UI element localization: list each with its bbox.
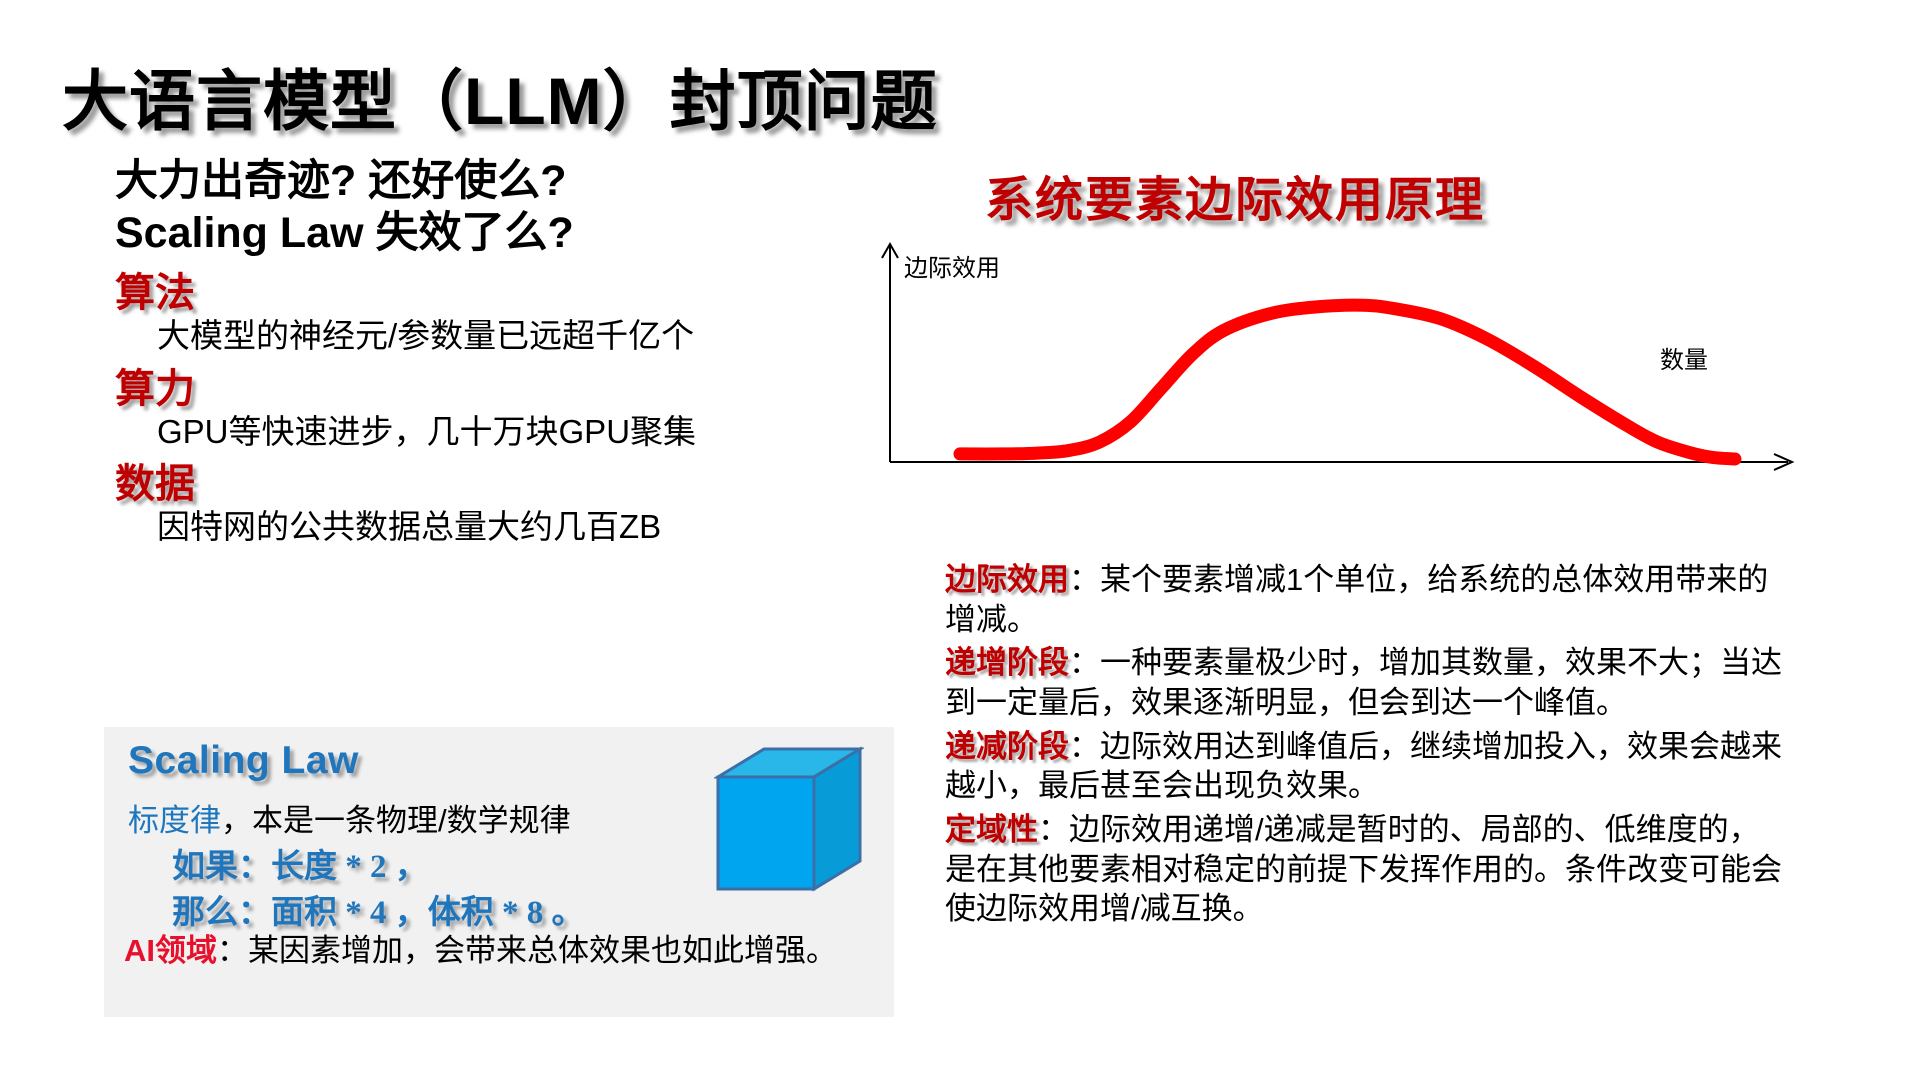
scaling-law-ai-term: AI领域 bbox=[124, 933, 217, 968]
factor-heading-algorithm: 算法 bbox=[115, 272, 775, 314]
scaling-law-definition-term: 标度律 bbox=[128, 803, 221, 838]
factor-detail-compute: GPU等快速进步，几十万块GPU聚集 bbox=[157, 412, 775, 452]
concept-paragraph: 递减阶段：边际效用达到峰值后，继续增加投入，效果会越来越小，最后甚至会出现负效果… bbox=[945, 727, 1785, 806]
concept-explanation-block: 边际效用：某个要素增减1个单位，给系统的总体效用带来的增减。递增阶段：一种要素量… bbox=[945, 560, 1785, 933]
concept-body: ：边际效用达到峰值后，继续增加投入，效果会越来越小，最后甚至会出现负效果。 bbox=[945, 729, 1782, 804]
concept-paragraph: 递增阶段：一种要素量极少时，增加其数量，效果不大；当达到一定量后，效果逐渐明显，… bbox=[945, 643, 1785, 722]
concept-term: 递增阶段 bbox=[945, 645, 1069, 680]
concept-body: ：边际效用递增/递减是暂时的、局部的、低维度的，是在其他要素相对稳定的前提下发挥… bbox=[945, 812, 1782, 926]
scaling-law-ai-body: ：某因素增加，会带来总体效果也如此增强。 bbox=[217, 933, 837, 968]
concept-body: ：某个要素增减1个单位，给系统的总体效用带来的增减。 bbox=[945, 562, 1768, 637]
concept-term: 边际效用 bbox=[945, 562, 1069, 597]
scaling-law-definition: 标度律，本是一条物理/数学规律 bbox=[128, 795, 571, 840]
concept-term: 定域性 bbox=[945, 812, 1038, 847]
y-axis-label: 边际效用 bbox=[904, 248, 1000, 283]
headline-line-1: 大力出奇迹? 还好使么? bbox=[115, 155, 775, 207]
concept-term: 递减阶段 bbox=[945, 729, 1069, 764]
page-title: 大语言模型（LLM）封顶问题 bbox=[62, 48, 938, 144]
concept-body: ：一种要素量极少时，增加其数量，效果不大；当达到一定量后，效果逐渐明显，但会到达… bbox=[945, 645, 1782, 720]
scaling-law-title: Scaling Law bbox=[128, 739, 359, 783]
scaling-law-definition-rest: ，本是一条物理/数学规律 bbox=[221, 803, 571, 838]
factor-detail-algorithm: 大模型的神经元/参数量已远超千亿个 bbox=[157, 316, 775, 356]
concept-paragraph: 定域性：边际效用递增/递减是暂时的、局部的、低维度的，是在其他要素相对稳定的前提… bbox=[945, 810, 1785, 929]
scaling-law-ai-note: AI领域：某因素增加，会带来总体效果也如此增强。 bbox=[124, 932, 874, 971]
concept-paragraph: 边际效用：某个要素增减1个单位，给系统的总体效用带来的增减。 bbox=[945, 560, 1785, 639]
x-axis-label: 数量 bbox=[1660, 340, 1708, 375]
scaling-formula-if: 如果：长度 * 2 ， bbox=[172, 839, 428, 887]
chart-title: 系统要素边际效用原理 bbox=[985, 160, 1485, 230]
factor-heading-compute: 算力 bbox=[115, 368, 775, 410]
marginal-utility-chart: 边际效用 数量 bbox=[860, 230, 1820, 490]
left-content-column: 大力出奇迹? 还好使么? Scaling Law 失效了么? 算法 大模型的神经… bbox=[115, 155, 775, 547]
scaling-law-panel: Scaling Law 标度律，本是一条物理/数学规律 如果：长度 * 2 ， … bbox=[104, 727, 894, 1017]
marginal-utility-curve bbox=[960, 305, 1735, 459]
headline-line-2: Scaling Law 失效了么? bbox=[115, 207, 775, 259]
factor-detail-data: 因特网的公共数据总量大约几百ZB bbox=[157, 507, 775, 547]
scaling-formula-then: 那么：面积 * 4 ，体积 * 8 。 bbox=[172, 885, 585, 933]
factor-heading-data: 数据 bbox=[115, 463, 775, 505]
cube-3d-icon bbox=[714, 739, 864, 899]
